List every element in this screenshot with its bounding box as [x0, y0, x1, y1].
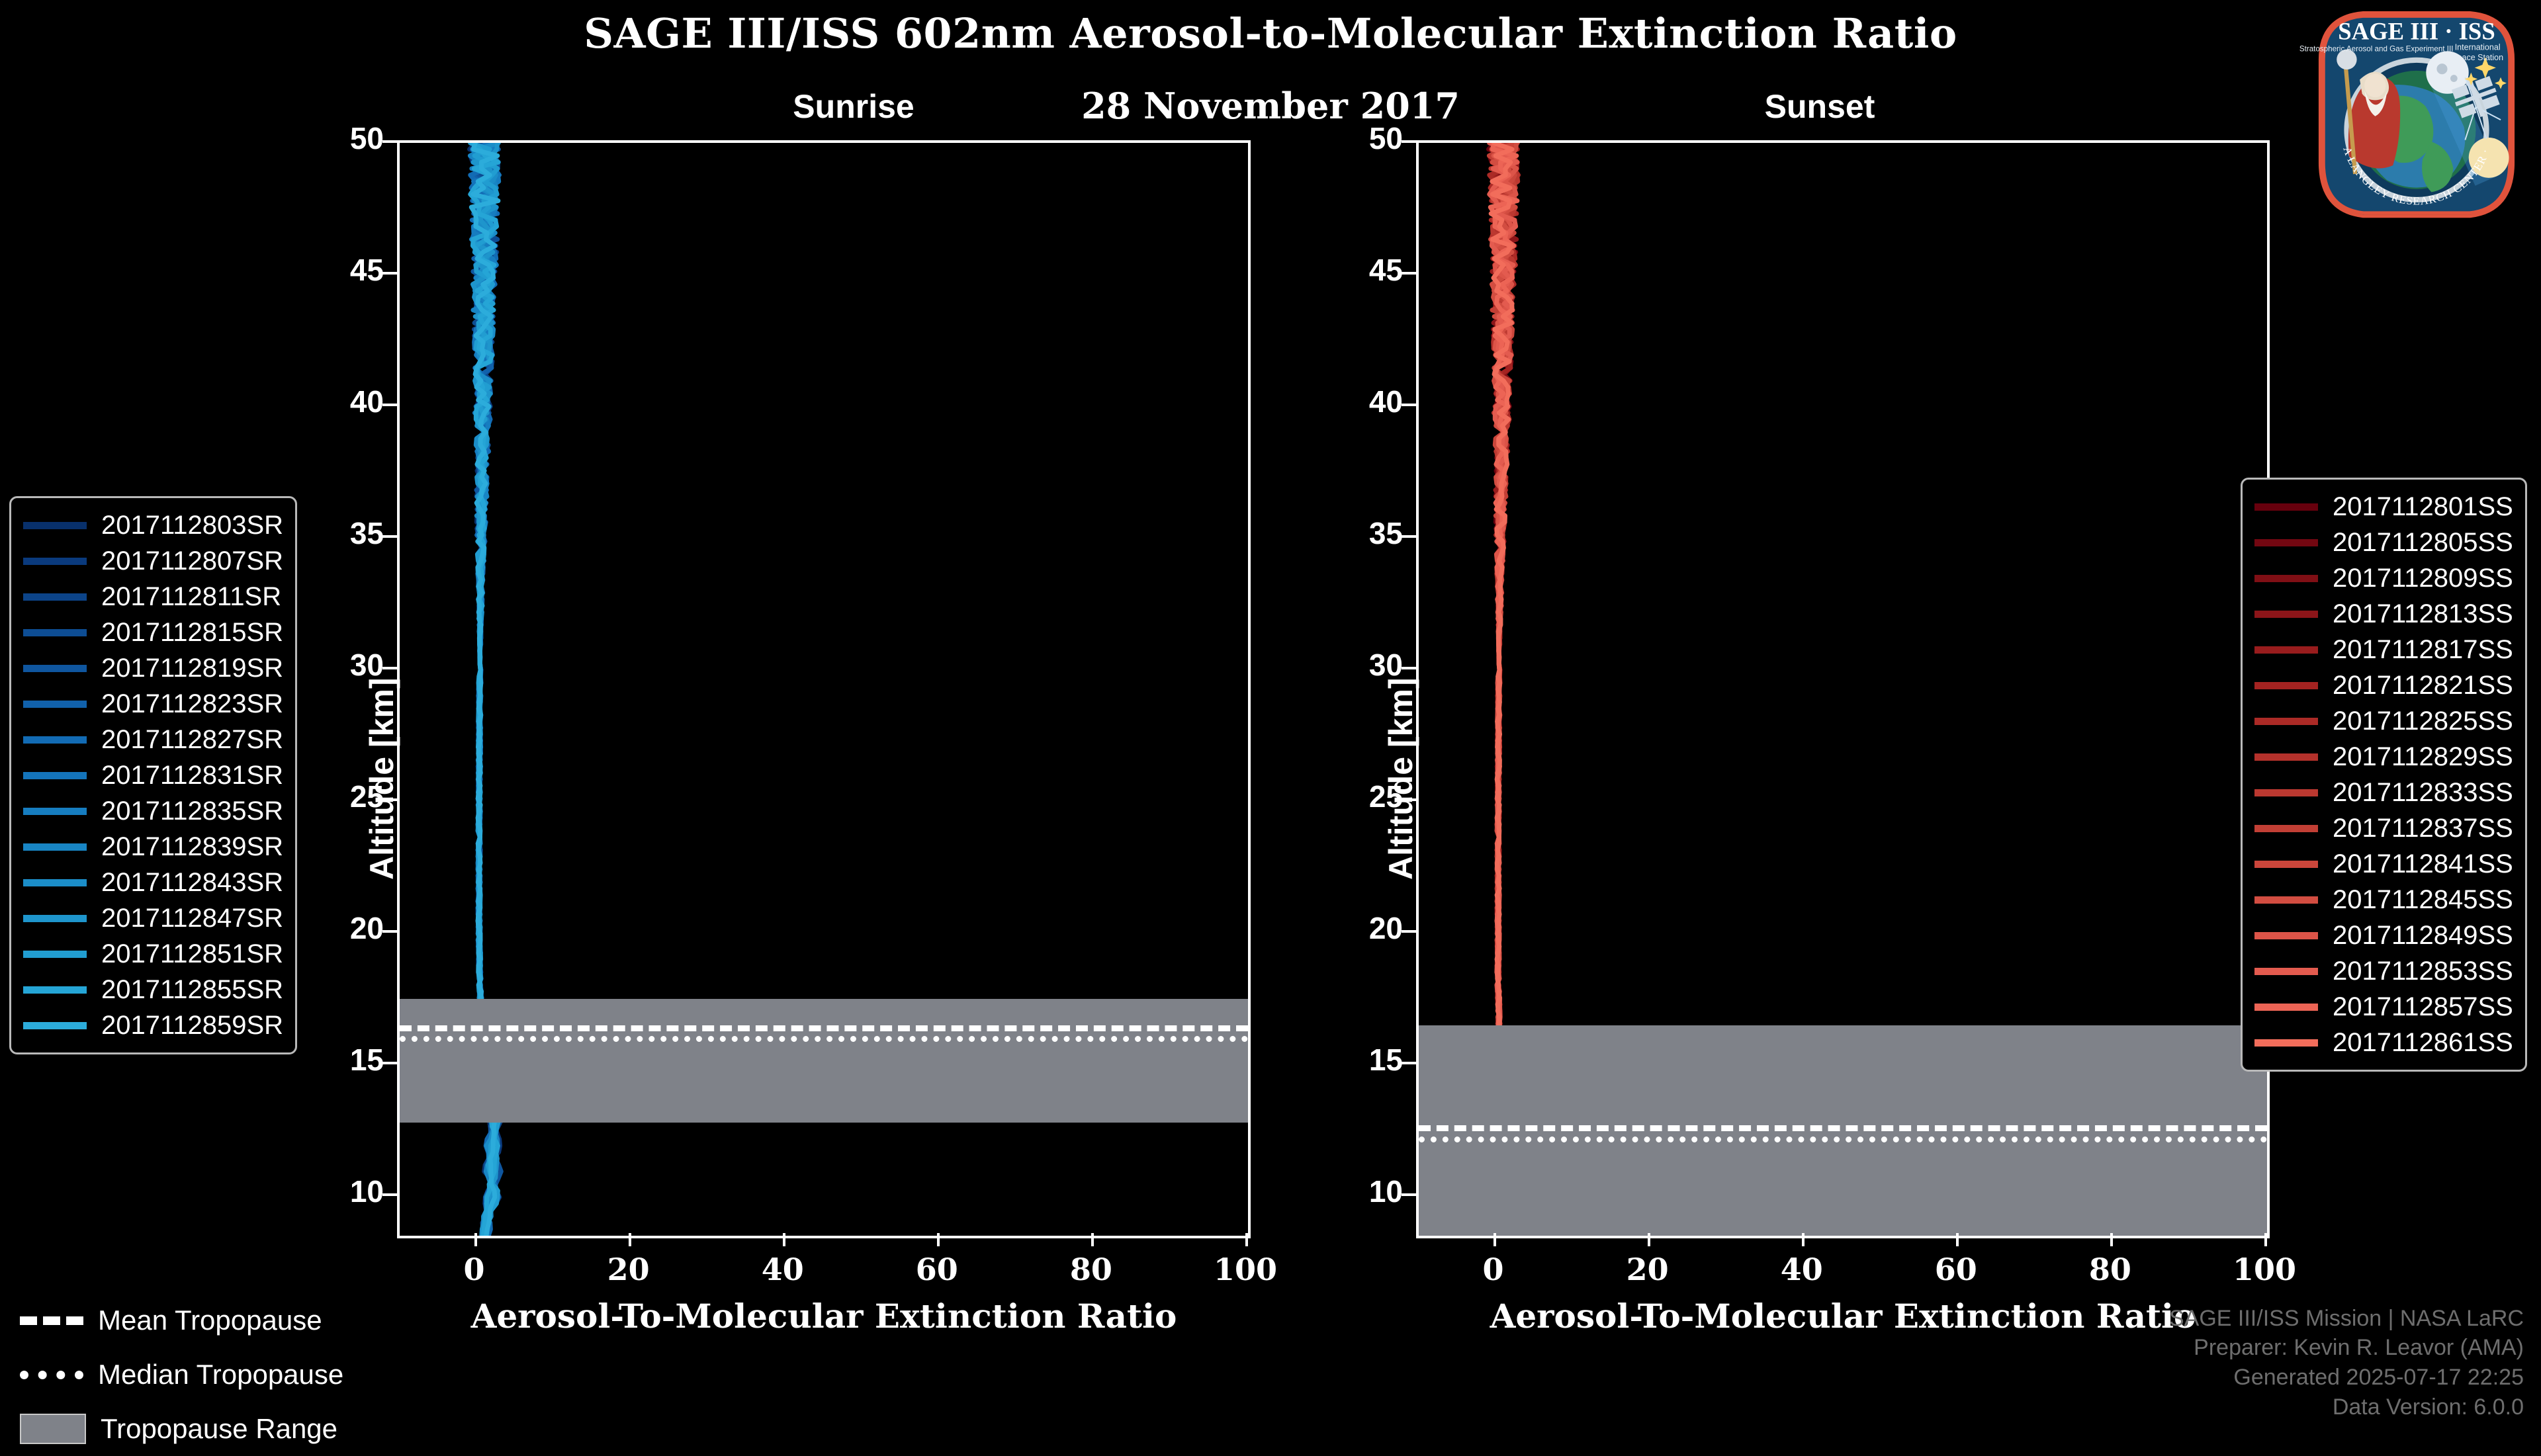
x-tick-label: 0	[435, 1252, 514, 1287]
legend-label: Tropopause Range	[101, 1413, 337, 1445]
x-tick-mark	[474, 1233, 477, 1246]
y-tick-label: 25	[1330, 779, 1403, 814]
legend-color-swatch	[23, 843, 87, 851]
y-tick-label: 40	[311, 384, 384, 419]
legend-label: 2017112835SR	[101, 796, 283, 826]
legend-label: 2017112811SR	[101, 582, 281, 612]
legend-sunrise-item[interactable]: 2017112831SR	[23, 757, 283, 793]
legend-sunset-item[interactable]: 2017112857SS	[2254, 989, 2513, 1025]
legend-color-swatch	[2254, 896, 2318, 904]
legend-color-swatch	[2254, 682, 2318, 689]
x-tick-mark	[2110, 1233, 2113, 1246]
legend-label: 2017112809SS	[2333, 564, 2513, 593]
legend-sunset-item[interactable]: 2017112833SS	[2254, 775, 2513, 810]
legend-color-swatch	[2254, 718, 2318, 725]
legend-label: 2017112829SS	[2333, 742, 2513, 772]
legend-color-swatch	[2254, 825, 2318, 832]
legend-color-swatch	[23, 951, 87, 958]
legend-label: 2017112813SS	[2333, 599, 2513, 629]
legend-sunset-item[interactable]: 2017112809SS	[2254, 560, 2513, 596]
legend-color-swatch	[23, 593, 87, 601]
y-tick-mark	[382, 535, 397, 538]
x-axis-title-sunset: Aerosol-To-Molecular Extinction Ratio	[1416, 1297, 2270, 1336]
legend-sunset[interactable]: 2017112801SS2017112805SS2017112809SS2017…	[2241, 478, 2527, 1072]
legend-sunset-item[interactable]: 2017112817SS	[2254, 632, 2513, 667]
legend-color-swatch	[23, 986, 87, 994]
patch-subtitle-right-2: Space Station	[2452, 53, 2503, 62]
legend-sunset-item[interactable]: 2017112801SS	[2254, 489, 2513, 525]
legend-sunset-item[interactable]: 2017112861SS	[2254, 1025, 2513, 1060]
legend-sunset-item[interactable]: 2017112821SS	[2254, 667, 2513, 703]
legend-sunrise-item[interactable]: 2017112847SR	[23, 900, 283, 936]
legend-label: 2017112845SS	[2333, 885, 2513, 915]
legend-sunrise-item[interactable]: 2017112859SR	[23, 1007, 283, 1043]
y-tick-label: 35	[1330, 515, 1403, 551]
patch-subtitle-right-1: International	[2455, 43, 2501, 52]
legend-tropopause-item[interactable]: Tropopause Range	[20, 1402, 343, 1456]
legend-label: 2017112849SS	[2333, 921, 2513, 951]
legend-label: Mean Tropopause	[98, 1305, 322, 1336]
legend-label: 2017112821SS	[2333, 671, 2513, 701]
x-tick-mark	[1802, 1233, 1805, 1246]
legend-label: 2017112847SR	[101, 904, 283, 933]
legend-sunrise-item[interactable]: 2017112827SR	[23, 722, 283, 757]
legend-label: 2017112843SR	[101, 868, 283, 898]
legend-color-swatch	[2254, 611, 2318, 618]
legend-tropopause[interactable]: Mean TropopauseMedian TropopauseTropopau…	[20, 1293, 343, 1456]
legend-color-swatch	[23, 629, 87, 636]
legend-label: 2017112801SS	[2333, 492, 2513, 522]
y-tick-label: 10	[1330, 1174, 1403, 1209]
x-tick-label: 20	[589, 1252, 668, 1287]
legend-label: 2017112815SR	[101, 618, 283, 648]
legend-color-swatch	[2254, 1039, 2318, 1047]
y-tick-mark	[1402, 404, 1416, 406]
sunrise-panel-label: Sunrise	[715, 87, 993, 126]
x-tick-label: 60	[897, 1252, 977, 1287]
legend-sunset-item[interactable]: 2017112829SS	[2254, 739, 2513, 775]
x-tick-mark	[1493, 1233, 1496, 1246]
x-tick-label: 40	[743, 1252, 823, 1287]
y-tick-mark	[382, 667, 397, 669]
x-tick-mark	[1956, 1233, 1959, 1246]
y-tick-label: 10	[311, 1174, 384, 1209]
y-tick-label: 35	[311, 515, 384, 551]
legend-color-swatch	[23, 915, 87, 922]
legend-sunset-item[interactable]: 2017112845SS	[2254, 882, 2513, 918]
legend-sunrise[interactable]: 2017112803SR2017112807SR2017112811SR2017…	[9, 496, 297, 1054]
sage-iii-iss-mission-patch: BALL · NASA LANGLEY RESEARCH CENTER · TA…	[2297, 3, 2536, 228]
legend-label: 2017112855SR	[101, 975, 283, 1005]
legend-label: 2017112833SS	[2333, 778, 2513, 808]
legend-dashed-swatch	[20, 1316, 83, 1325]
patch-title: SAGE III · ISS	[2338, 17, 2495, 44]
legend-color-swatch	[23, 558, 87, 565]
legend-tropopause-item[interactable]: Median Tropopause	[20, 1348, 343, 1402]
y-tick-mark	[382, 140, 397, 143]
credits-block: SAGE III/ISS Mission | NASA LaRC Prepare…	[2169, 1304, 2524, 1423]
y-tick-label: 30	[311, 647, 384, 683]
y-tick-label: 25	[311, 779, 384, 814]
legend-color-swatch	[23, 701, 87, 708]
y-tick-mark	[382, 404, 397, 406]
credit-generated: Generated 2025-07-17 22:25	[2169, 1363, 2524, 1392]
legend-label: 2017112827SR	[101, 725, 283, 755]
x-tick-label: 80	[1051, 1252, 1131, 1287]
y-tick-label: 15	[1330, 1042, 1403, 1078]
tropopause-range-band-sunrise	[400, 999, 1248, 1123]
patch-subtitle-left: Stratospheric Aerosol and Gas Experiment…	[2299, 44, 2454, 53]
y-tick-mark	[1402, 272, 1416, 275]
legend-label: 2017112831SR	[101, 761, 283, 791]
x-tick-label: 100	[2225, 1252, 2304, 1287]
legend-label: 2017112817SS	[2333, 635, 2513, 665]
y-tick-mark	[1402, 1062, 1416, 1064]
legend-color-swatch	[2254, 503, 2318, 511]
credit-mission: SAGE III/ISS Mission | NASA LaRC	[2169, 1304, 2524, 1334]
sunset-panel-label: Sunset	[1681, 87, 1959, 126]
legend-sunrise-item[interactable]: 2017112855SR	[23, 972, 283, 1007]
legend-color-swatch	[2254, 861, 2318, 868]
plot-sunset	[1416, 140, 2270, 1238]
legend-label: 2017112819SR	[101, 654, 283, 683]
x-tick-label: 0	[1454, 1252, 1533, 1287]
legend-sunset-item[interactable]: 2017112813SS	[2254, 596, 2513, 632]
y-tick-mark	[1402, 140, 1416, 143]
x-tick-label: 100	[1206, 1252, 1285, 1287]
x-tick-label: 80	[2071, 1252, 2150, 1287]
y-tick-mark	[1402, 667, 1416, 669]
x-tick-label: 40	[1762, 1252, 1842, 1287]
legend-color-swatch	[23, 879, 87, 886]
y-tick-label: 30	[1330, 647, 1403, 683]
plot-sunrise	[397, 140, 1251, 1238]
legend-label: 2017112841SS	[2333, 849, 2513, 879]
x-tick-label: 60	[1916, 1252, 1996, 1287]
legend-sunset-item[interactable]: 2017112805SS	[2254, 525, 2513, 560]
legend-sunset-item[interactable]: 2017112853SS	[2254, 953, 2513, 989]
credit-data-version: Data Version: 6.0.0	[2169, 1392, 2524, 1422]
legend-dotted-swatch	[20, 1371, 83, 1379]
legend-color-swatch	[23, 808, 87, 815]
y-tick-mark	[1402, 798, 1416, 801]
x-tick-mark	[1648, 1233, 1650, 1246]
legend-sunrise-item[interactable]: 2017112803SR	[23, 507, 283, 543]
x-tick-mark	[1245, 1233, 1248, 1246]
legend-tropopause-item[interactable]: Mean Tropopause	[20, 1293, 343, 1348]
legend-label: 2017112861SS	[2333, 1028, 2513, 1058]
legend-label: 2017112823SR	[101, 689, 283, 719]
y-tick-mark	[1402, 930, 1416, 933]
legend-label: 2017112839SR	[101, 832, 283, 862]
x-tick-mark	[1091, 1233, 1094, 1246]
legend-label: 2017112859SR	[101, 1011, 283, 1041]
y-tick-label: 50	[311, 120, 384, 156]
median-tropopause-line-sunset	[1419, 1136, 2267, 1142]
legend-label: 2017112807SR	[101, 546, 283, 576]
y-tick-mark	[382, 1062, 397, 1064]
y-tick-mark	[382, 1193, 397, 1196]
legend-sunrise-item[interactable]: 2017112811SR	[23, 579, 283, 615]
legend-label: Median Tropopause	[98, 1359, 343, 1391]
legend-label: 2017112857SS	[2333, 992, 2513, 1022]
legend-fill-swatch	[20, 1414, 86, 1444]
x-axis-title-sunrise: Aerosol-To-Molecular Extinction Ratio	[397, 1297, 1251, 1336]
x-tick-mark	[783, 1233, 785, 1246]
legend-label: 2017112803SR	[101, 511, 283, 540]
y-tick-mark	[382, 930, 397, 933]
legend-color-swatch	[2254, 646, 2318, 654]
legend-color-swatch	[2254, 753, 2318, 761]
y-tick-mark	[1402, 535, 1416, 538]
credit-preparer: Preparer: Kevin R. Leavor (AMA)	[2169, 1333, 2524, 1363]
legend-color-swatch	[23, 665, 87, 672]
legend-sunrise-item[interactable]: 2017112835SR	[23, 793, 283, 829]
legend-sunset-item[interactable]: 2017112849SS	[2254, 918, 2513, 953]
legend-color-swatch	[23, 1022, 87, 1029]
page-title: SAGE III/ISS 602nm Aerosol-to-Molecular …	[0, 9, 2541, 58]
y-tick-label: 15	[311, 1042, 384, 1078]
legend-sunset-item[interactable]: 2017112837SS	[2254, 810, 2513, 846]
mean-tropopause-line-sunset	[1419, 1125, 2267, 1131]
x-tick-label: 20	[1608, 1252, 1687, 1287]
legend-label: 2017112805SS	[2333, 528, 2513, 558]
x-tick-mark	[937, 1233, 940, 1246]
legend-sunset-item[interactable]: 2017112841SS	[2254, 846, 2513, 882]
mean-tropopause-line-sunrise	[400, 1025, 1248, 1031]
legend-sunset-item[interactable]: 2017112825SS	[2254, 703, 2513, 739]
y-tick-mark	[1402, 1193, 1416, 1196]
legend-color-swatch	[2254, 932, 2318, 939]
legend-color-swatch	[2254, 539, 2318, 546]
x-tick-mark	[629, 1233, 631, 1246]
legend-color-swatch	[23, 772, 87, 779]
legend-sunrise-item[interactable]: 2017112819SR	[23, 650, 283, 686]
legend-color-swatch	[2254, 789, 2318, 796]
y-tick-label: 20	[1330, 910, 1403, 946]
y-tick-label: 20	[311, 910, 384, 946]
legend-sunrise-item[interactable]: 2017112823SR	[23, 686, 283, 722]
legend-sunrise-item[interactable]: 2017112851SR	[23, 936, 283, 972]
y-tick-label: 45	[1330, 252, 1403, 288]
legend-sunrise-item[interactable]: 2017112815SR	[23, 615, 283, 650]
y-tick-mark	[382, 272, 397, 275]
legend-label: 2017112851SR	[101, 939, 283, 969]
legend-label: 2017112825SS	[2333, 707, 2513, 736]
legend-sunrise-item[interactable]: 2017112839SR	[23, 829, 283, 865]
y-tick-label: 40	[1330, 384, 1403, 419]
legend-color-swatch	[2254, 968, 2318, 975]
legend-sunrise-item[interactable]: 2017112843SR	[23, 865, 283, 900]
x-tick-mark	[2264, 1233, 2267, 1246]
legend-color-swatch	[23, 736, 87, 744]
legend-sunrise-item[interactable]: 2017112807SR	[23, 543, 283, 579]
legend-label: 2017112853SS	[2333, 957, 2513, 986]
legend-color-swatch	[2254, 575, 2318, 582]
y-tick-label: 45	[311, 252, 384, 288]
legend-color-swatch	[2254, 1004, 2318, 1011]
legend-color-swatch	[23, 522, 87, 529]
y-tick-label: 50	[1330, 120, 1403, 156]
legend-label: 2017112837SS	[2333, 814, 2513, 843]
y-tick-mark	[382, 798, 397, 801]
median-tropopause-line-sunrise	[400, 1036, 1248, 1042]
